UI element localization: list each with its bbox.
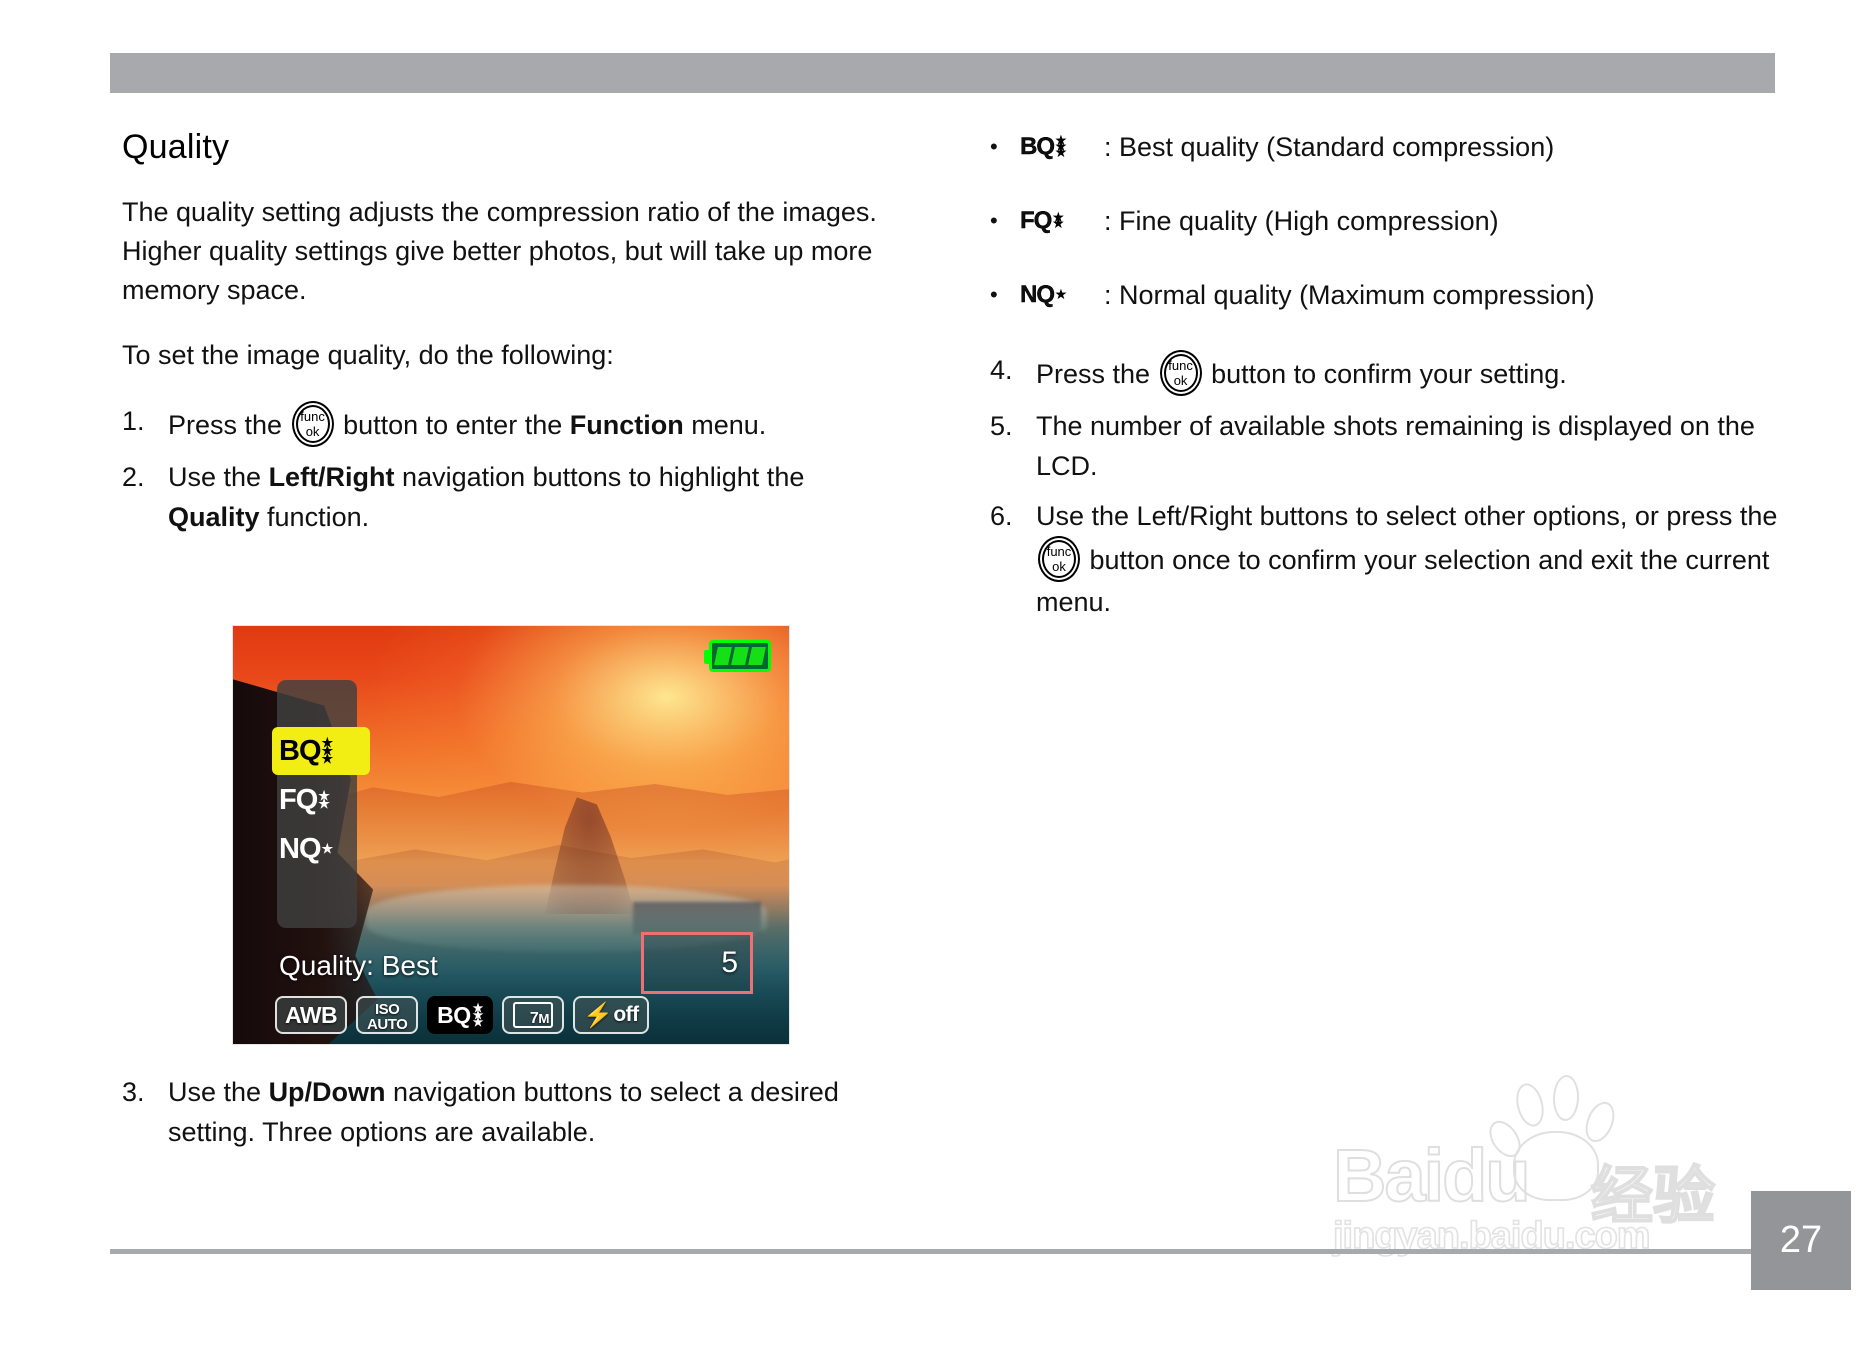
func-ok-label-bottom: ok [292, 425, 334, 438]
quality-dropdown-menu[interactable]: BQ ★★★ FQ ★★ NQ ★ [277, 680, 357, 928]
left-steps-list-continued: 3. Use the Up/Down navigation buttons to… [122, 1072, 902, 1162]
left-column: Quality The quality setting adjusts the … [122, 128, 902, 547]
quality-option-normal-stars: ★ [322, 845, 333, 853]
document-page: Quality The quality setting adjusts the … [0, 0, 1871, 1361]
quality-option-fine-stars: ★★ [318, 792, 329, 808]
flash-chip[interactable]: ⚡ off [573, 996, 649, 1034]
shots-remaining-box: 5 [641, 932, 753, 994]
list-item: • BQ ★★★ : Best quality (Standard compre… [990, 128, 1790, 166]
fine-quality-glyph-text: FQ [1020, 202, 1051, 240]
quality-option-fine-label: FQ [279, 784, 317, 817]
best-quality-glyph-stars: ★★★ [1056, 138, 1065, 156]
list-item: 4. Press the func ok button to confirm y… [990, 350, 1790, 396]
bullet-icon: • [990, 128, 1020, 166]
step-text-post: function. [260, 502, 370, 532]
step-text-pre: Use the Left/Right buttons to select oth… [1036, 501, 1777, 531]
step-number: 3. [122, 1072, 168, 1112]
lcd-bottom-toolbar: AWB ISO AUTO BQ ★★★ 7M [275, 994, 781, 1036]
baidu-paw-icon [1491, 1075, 1641, 1207]
watermark-brand: Baidu [1333, 1133, 1529, 1218]
fine-quality-description: : Fine quality (High compression) [1104, 202, 1499, 240]
iso-label-top: ISO [375, 1002, 399, 1017]
flash-bolt-glyph: ⚡ [583, 1001, 612, 1030]
step-text-post: button once to confirm your selection an… [1036, 545, 1769, 617]
list-item: 3. Use the Up/Down navigation buttons to… [122, 1072, 902, 1152]
quality-option-best[interactable]: BQ ★★★ [272, 727, 370, 775]
func-ok-label-bottom: ok [1160, 374, 1202, 387]
quality-chip[interactable]: BQ ★★★ [427, 996, 493, 1034]
lcd-screen: BQ ★★★ FQ ★★ NQ ★ [233, 626, 789, 1044]
flash-off-icon: ⚡ off [583, 1001, 639, 1030]
fine-quality-glyph-stars: ★★ [1053, 215, 1062, 227]
step-text: Use the Left/Right navigation buttons to… [168, 457, 902, 537]
watermark-brand-cn: 经验 [1591, 1145, 1715, 1235]
resolution-chip[interactable]: 7M [502, 996, 564, 1034]
quality-option-normal-label: NQ [279, 833, 321, 866]
battery-segment [731, 647, 749, 665]
quality-chip-label: BQ [437, 1002, 471, 1029]
paw-pad [1513, 1131, 1599, 1201]
best-quality-description: : Best quality (Standard compression) [1104, 128, 1554, 166]
quality-option-normal[interactable]: NQ ★ [272, 825, 370, 873]
paw-toe [1580, 1098, 1620, 1147]
step-text-pre: Press the [168, 410, 290, 440]
lead-in-paragraph: To set the image quality, do the followi… [122, 336, 902, 375]
white-balance-label: AWB [285, 1002, 337, 1029]
iso-chip[interactable]: ISO AUTO [356, 996, 418, 1034]
resolution-frame-icon: 7M [513, 1002, 553, 1028]
func-ok-button-icon: func ok [292, 401, 334, 447]
func-ok-label-bottom: ok [1038, 560, 1080, 573]
step-number: 4. [990, 350, 1036, 390]
resolution-unit: M [538, 1011, 549, 1026]
step-text-pre: Use the [168, 1077, 269, 1107]
header-bar [110, 53, 1775, 93]
page-number: 27 [1780, 1219, 1822, 1262]
right-column: • BQ ★★★ : Best quality (Standard compre… [990, 128, 1790, 632]
battery-full-icon [709, 640, 771, 672]
func-ok-label-top: func [292, 410, 334, 423]
step-text-mid: navigation buttons to highlight the [395, 462, 805, 492]
step-text-pre: Press the [1036, 359, 1158, 389]
baidu-watermark: Baidu 经验 jingyan.baidu.com [1333, 1075, 1773, 1275]
battery-segment [748, 647, 766, 665]
step-text-post: menu. [684, 410, 767, 440]
best-quality-glyph-text: BQ [1020, 128, 1054, 166]
right-steps-list: 4. Press the func ok button to confirm y… [990, 350, 1790, 622]
quality-option-best-stars: ★★★ [322, 739, 333, 763]
step-text: Press the func ok button to confirm your… [1036, 350, 1790, 396]
best-quality-glyph-icon: BQ ★★★ [1020, 128, 1098, 166]
step-number: 1. [122, 401, 168, 441]
normal-quality-glyph-icon: NQ ★ [1020, 276, 1098, 314]
step-text-bold-1: Left/Right [269, 462, 395, 492]
normal-quality-glyph-stars: ★ [1056, 292, 1065, 298]
normal-quality-description: : Normal quality (Maximum compression) [1104, 276, 1595, 314]
step-text: Press the func ok button to enter the Fu… [168, 401, 902, 447]
lcd-status-text: Quality: Best [279, 950, 438, 982]
step-number: 2. [122, 457, 168, 497]
step-text: The number of available shots remaining … [1036, 406, 1790, 486]
func-ok-button-icon: func ok [1160, 350, 1202, 396]
step-text-pre: Use the [168, 462, 269, 492]
list-item: • NQ ★ : Normal quality (Maximum compres… [990, 276, 1790, 314]
step-text-post: button to confirm your setting. [1204, 359, 1567, 389]
left-steps-list: 1. Press the func ok button to enter the… [122, 401, 902, 537]
paw-toe [1552, 1075, 1580, 1122]
footer-divider [110, 1249, 1773, 1254]
step-number: 6. [990, 496, 1036, 536]
iso-label-bottom: AUTO [367, 1017, 407, 1032]
battery-segment [714, 647, 732, 665]
step-text-bold-2: Quality [168, 502, 260, 532]
quality-option-best-label: BQ [279, 735, 321, 768]
step-text: Use the Up/Down navigation buttons to se… [168, 1072, 902, 1152]
step-text-bold-1: Up/Down [269, 1077, 386, 1107]
flash-off-label: off [613, 1003, 638, 1027]
quality-option-fine[interactable]: FQ ★★ [272, 776, 370, 824]
shots-remaining-value: 5 [721, 946, 738, 980]
step-number: 5. [990, 406, 1036, 446]
bullet-icon: • [990, 276, 1020, 314]
list-item: 5. The number of available shots remaini… [990, 406, 1790, 486]
paw-toe [1512, 1081, 1548, 1130]
fine-quality-glyph-icon: FQ ★★ [1020, 202, 1098, 240]
page-title: Quality [122, 128, 902, 167]
camera-lcd-illustration: BQ ★★★ FQ ★★ NQ ★ [232, 625, 790, 1045]
paw-toe [1483, 1115, 1527, 1163]
quality-chip-stars: ★★★ [473, 1005, 483, 1026]
step-text-bold: Function [570, 410, 684, 440]
distant-town [633, 902, 761, 935]
normal-quality-glyph-text: NQ [1020, 276, 1054, 314]
func-ok-label-top: func [1038, 545, 1080, 558]
step-text-mid: button to enter the [336, 410, 570, 440]
list-item: 2. Use the Left/Right navigation buttons… [122, 457, 902, 537]
bullet-icon: • [990, 202, 1020, 240]
quality-options-list: • BQ ★★★ : Best quality (Standard compre… [990, 128, 1790, 314]
list-item: 6. Use the Left/Right buttons to select … [990, 496, 1790, 622]
func-ok-button-icon: func ok [1038, 536, 1080, 582]
white-balance-chip[interactable]: AWB [275, 996, 347, 1034]
list-item: • FQ ★★ : Fine quality (High compression… [990, 202, 1790, 240]
list-item: 1. Press the func ok button to enter the… [122, 401, 902, 447]
page-number-badge: 27 [1751, 1191, 1851, 1290]
resolution-value: 7M [530, 1011, 549, 1027]
func-ok-label-top: func [1160, 359, 1202, 372]
step-text: Use the Left/Right buttons to select oth… [1036, 496, 1790, 622]
intro-paragraph: The quality setting adjusts the compress… [122, 193, 902, 310]
